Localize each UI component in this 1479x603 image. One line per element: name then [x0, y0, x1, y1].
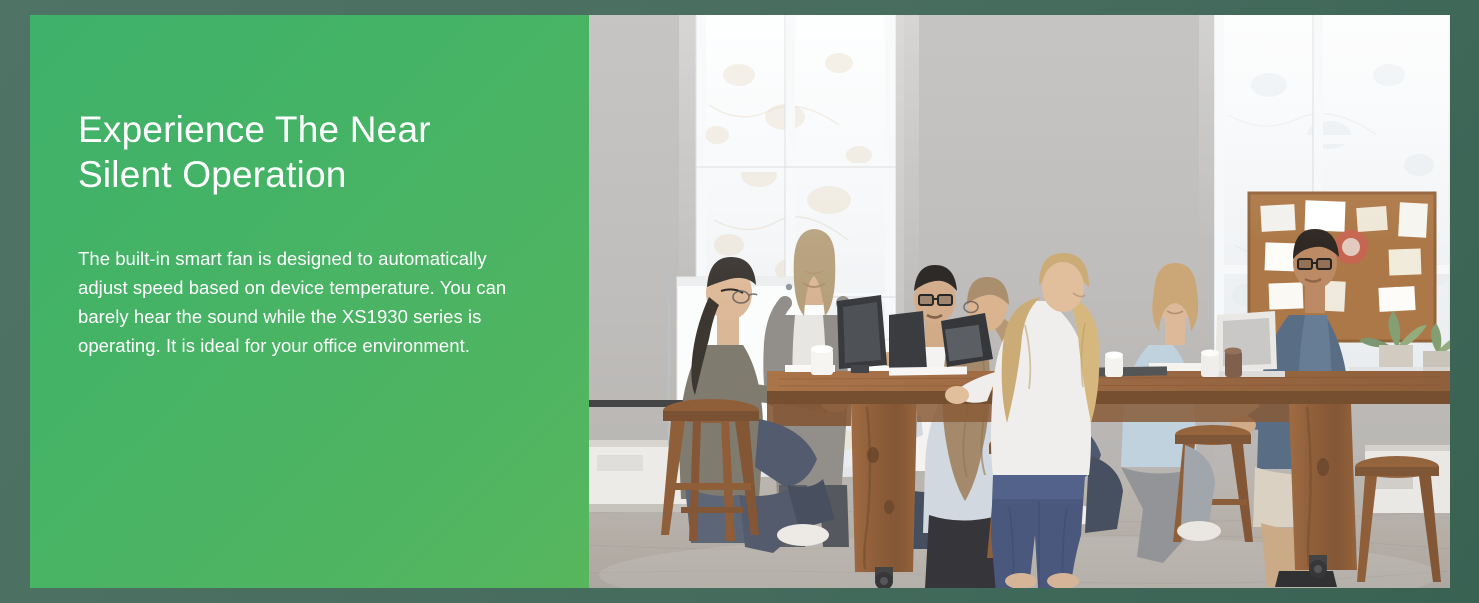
body-container: The built-in smart fan is designed to au…: [78, 244, 533, 360]
slide-canvas: Experience The Near Silent Operation The…: [0, 0, 1479, 603]
text-panel: Experience The Near Silent Operation The…: [30, 15, 589, 588]
office-photo-illustration: [589, 15, 1450, 588]
headline-container: Experience The Near Silent Operation: [78, 107, 548, 197]
slide-content: Experience The Near Silent Operation The…: [30, 15, 1450, 588]
body-paragraph: The built-in smart fan is designed to au…: [78, 244, 533, 360]
page-title: Experience The Near Silent Operation: [78, 107, 548, 197]
office-photo: [589, 15, 1450, 588]
